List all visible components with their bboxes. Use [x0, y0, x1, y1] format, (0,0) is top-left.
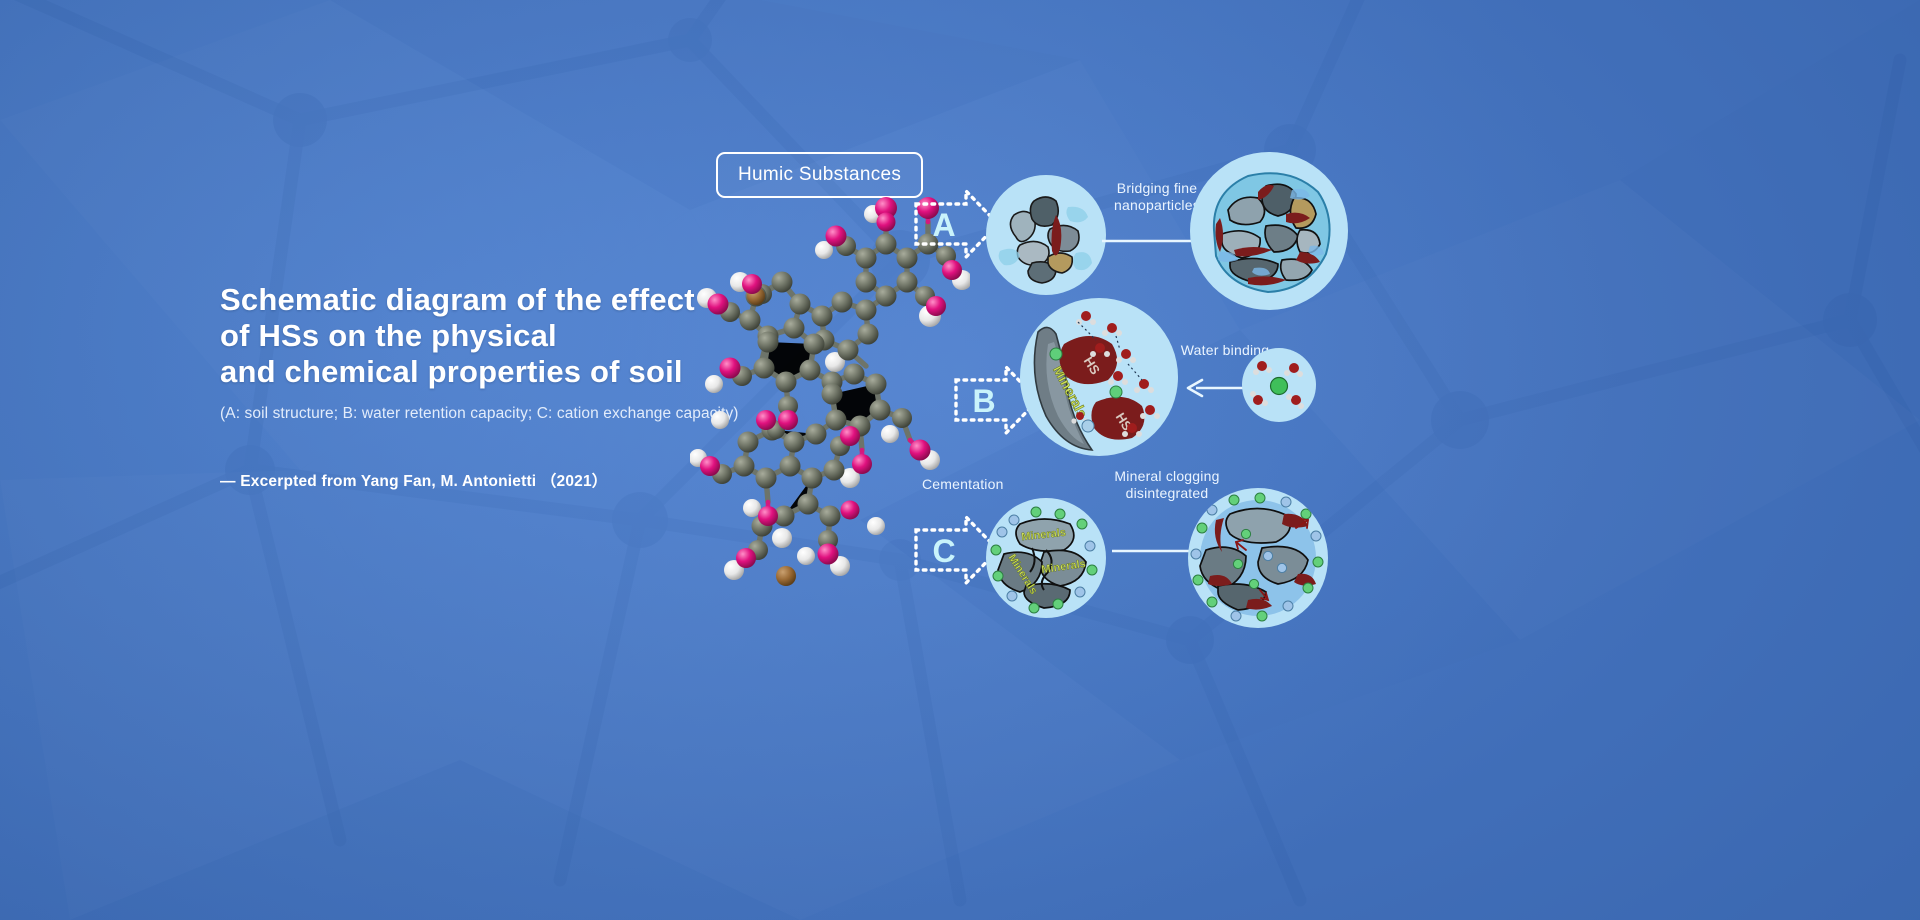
flow-label-cementation: Cementation [922, 476, 1052, 493]
schematic-diagram: Humic Substances [690, 120, 1920, 800]
pictogram-soil-aggregate-bound [1190, 152, 1348, 310]
pictogram-hydrated-cation [1242, 348, 1316, 422]
marker-letter-a: A [932, 207, 955, 243]
pictogram-cation-exchange-dispersed [1188, 488, 1328, 628]
marker-letter-c: C [932, 533, 955, 569]
pictogram-mineral-clogging: Minerals Minerals Minerals [986, 498, 1106, 618]
flow-label-clogging-line-1: Mineral clogging [1092, 468, 1242, 485]
pictogram-hs-water-retention: Minerals HS HS [1020, 298, 1178, 456]
marker-letter-b: B [972, 383, 995, 419]
